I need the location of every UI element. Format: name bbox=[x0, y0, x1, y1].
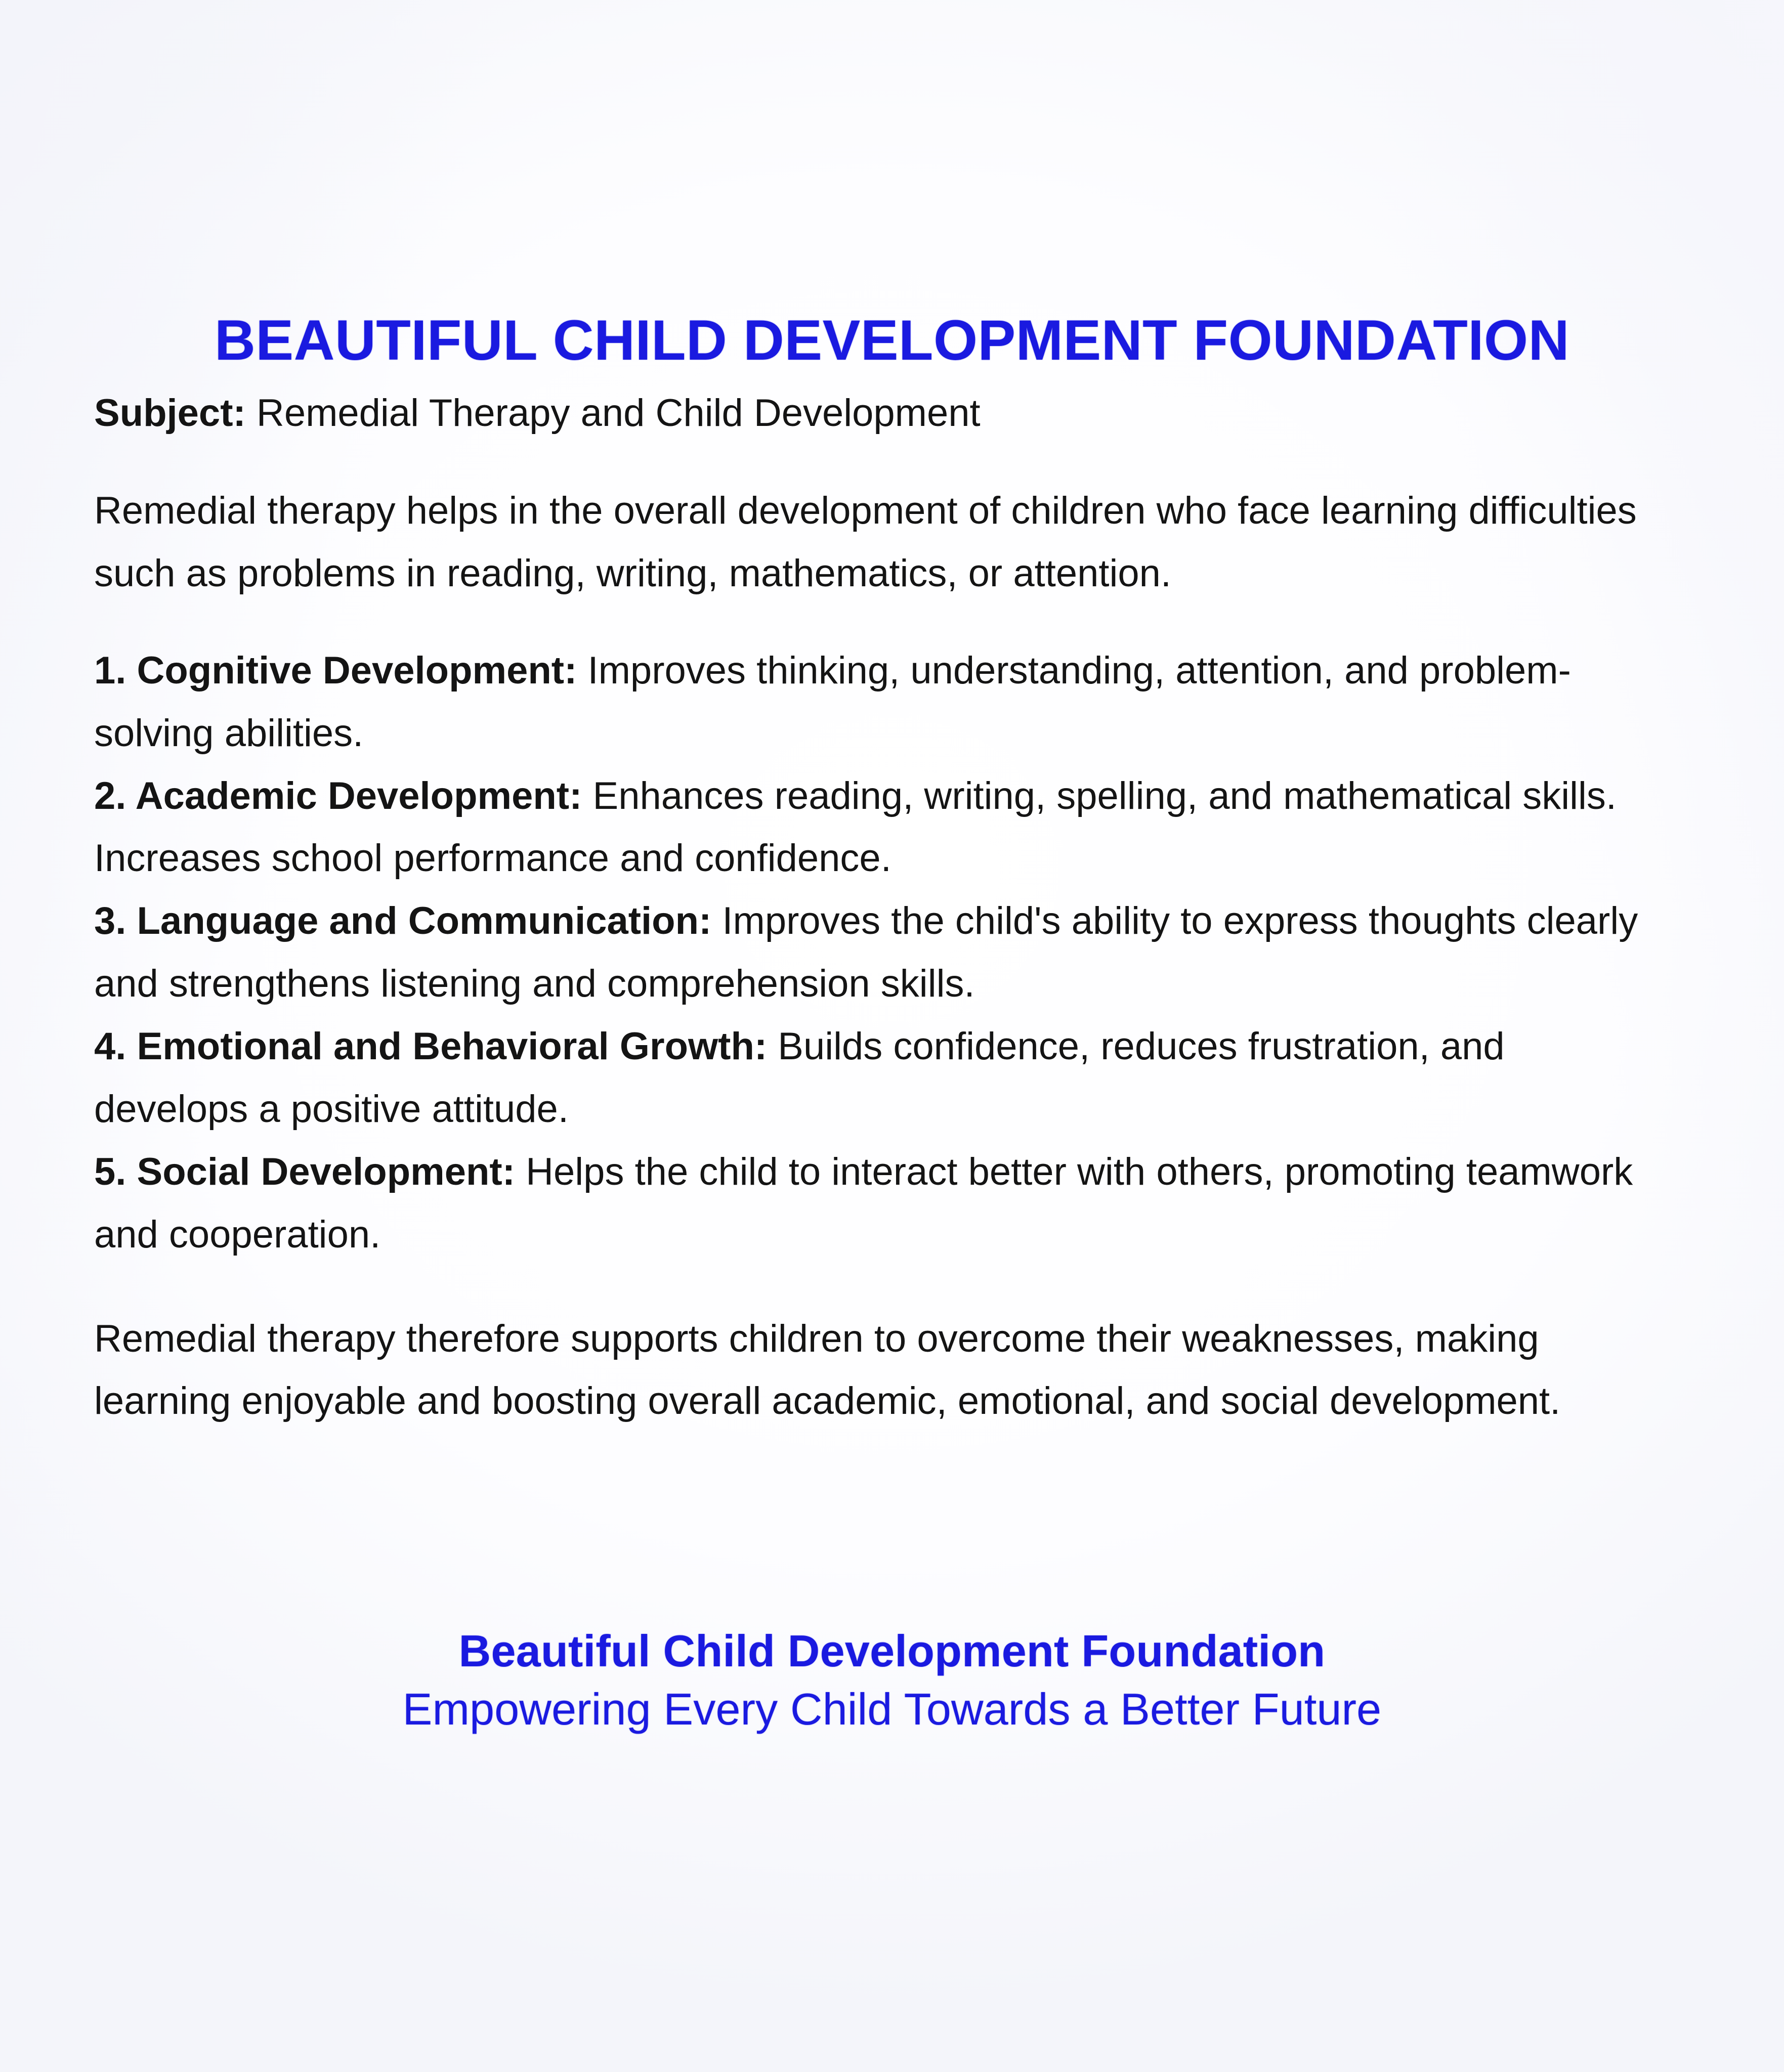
footer-organization-name: Beautiful Child Development Foundation bbox=[0, 1626, 1784, 1676]
list-item: 1. Cognitive Development: Improves think… bbox=[94, 639, 1668, 765]
document-footer: Beautiful Child Development Foundation E… bbox=[0, 1626, 1784, 1735]
benefit-label: 5. Social Development: bbox=[94, 1150, 515, 1193]
benefit-label: 2. Academic Development: bbox=[94, 774, 582, 817]
list-item: 2. Academic Development: Enhances readin… bbox=[94, 765, 1668, 890]
page-title: BEAUTIFUL CHILD DEVELOPMENT FOUNDATION bbox=[0, 310, 1784, 371]
intro-paragraph: Remedial therapy helps in the overall de… bbox=[94, 480, 1668, 605]
benefit-label: 1. Cognitive Development: bbox=[94, 649, 577, 692]
subject-label: Subject: bbox=[94, 392, 246, 435]
footer-tagline: Empowering Every Child Towards a Better … bbox=[0, 1683, 1784, 1735]
list-item: 5. Social Development: Helps the child t… bbox=[94, 1141, 1668, 1266]
benefits-list: 1. Cognitive Development: Improves think… bbox=[94, 639, 1668, 1266]
document-body: Subject: Remedial Therapy and Child Deve… bbox=[94, 384, 1668, 1433]
benefit-label: 4. Emotional and Behavioral Growth: bbox=[94, 1025, 767, 1068]
closing-paragraph: Remedial therapy therefore supports chil… bbox=[94, 1308, 1668, 1433]
subject-value: Remedial Therapy and Child Development bbox=[246, 392, 981, 435]
subject-line: Subject: Remedial Therapy and Child Deve… bbox=[94, 384, 1668, 442]
document-page: BEAUTIFUL CHILD DEVELOPMENT FOUNDATION S… bbox=[0, 0, 1784, 2072]
list-item: 3. Language and Communication: Improves … bbox=[94, 890, 1668, 1015]
benefit-label: 3. Language and Communication: bbox=[94, 899, 711, 942]
list-item: 4. Emotional and Behavioral Growth: Buil… bbox=[94, 1015, 1668, 1141]
